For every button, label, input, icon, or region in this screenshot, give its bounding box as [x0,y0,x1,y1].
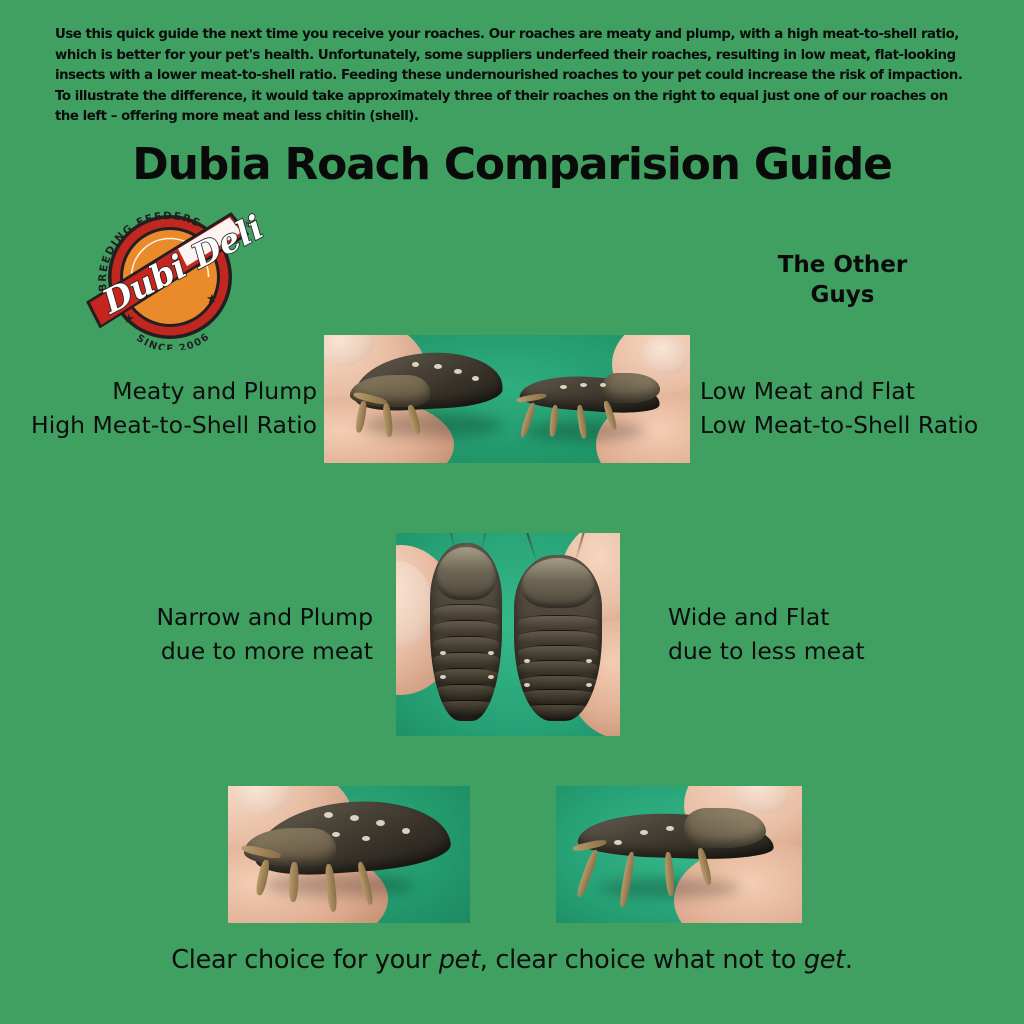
photo-theirs-side-view [556,786,802,923]
footer-caption-prefix: Clear choice for your [171,945,439,975]
footer-caption-suffix: . [845,945,853,975]
photo-pair-side-view [324,335,690,463]
caption-row2-right-line1: Wide and Flat [668,600,998,634]
logo-star-right-icon: ★ [206,291,218,306]
competitor-heading-line2: Guys [735,280,950,310]
intro-paragraph: Use this quick guide the next time you r… [55,25,970,128]
footer-caption-italic-get: get [804,945,845,975]
caption-row2-left-line2: due to more meat [0,634,373,668]
footer-caption-middle: , clear choice what not to [480,945,804,975]
caption-row2-right: Wide and Flat due to less meat [668,600,998,668]
photo-ours-side-view [228,786,470,923]
caption-row1-left-line1: Meaty and Plump [12,374,317,408]
caption-row1-right-line1: Low Meat and Flat [700,374,1012,408]
caption-row1-right: Low Meat and Flat Low Meat-to-Shell Rati… [700,374,1012,442]
logo-registered-icon: ® [243,220,252,230]
infographic-poster: Use this quick guide the next time you r… [0,0,1024,1024]
caption-row1-left-line2: High Meat-to-Shell Ratio [12,408,317,442]
caption-row1-right-line2: Low Meat-to-Shell Ratio [700,408,1012,442]
dubi-deli-logo: BREEDING FEEDERS SINCE 2006 ★ ★ Dubi Del… [78,205,268,350]
footer-caption: Clear choice for your pet, clear choice … [0,945,1024,975]
footer-caption-italic-pet: pet [439,945,480,975]
caption-row1-left: Meaty and Plump High Meat-to-Shell Ratio [12,374,317,442]
photo-pair-top-view [396,533,620,736]
competitor-heading: The Other Guys [735,250,950,310]
page-title: Dubia Roach Comparision Guide [0,139,1024,190]
caption-row2-left-line1: Narrow and Plump [0,600,373,634]
competitor-heading-line1: The Other [735,250,950,280]
caption-row2-right-line2: due to less meat [668,634,998,668]
caption-row2-left: Narrow and Plump due to more meat [0,600,373,668]
